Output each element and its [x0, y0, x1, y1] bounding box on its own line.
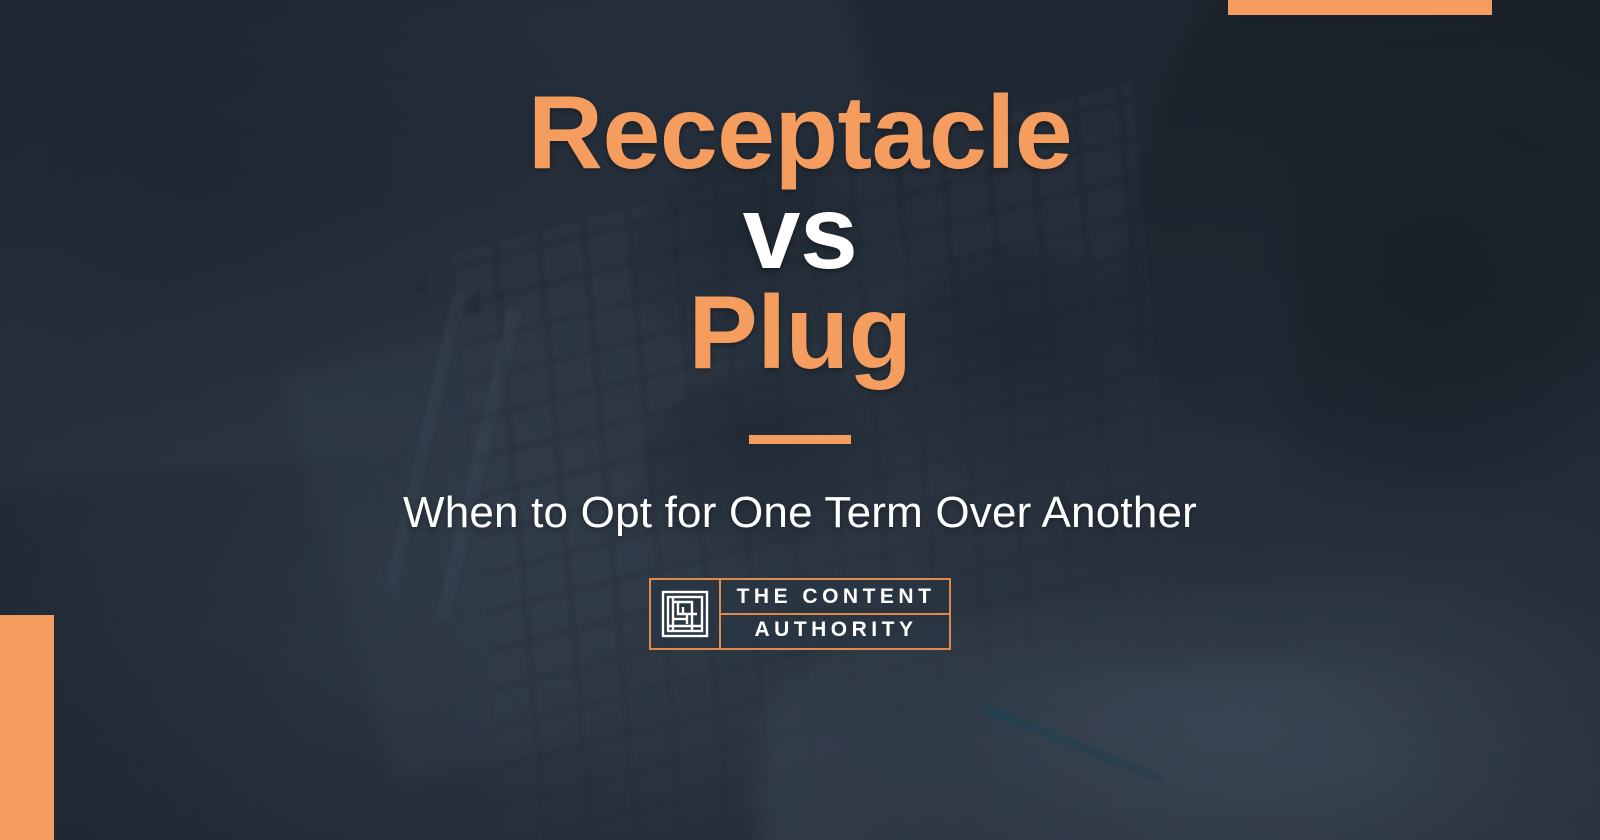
maze-square-icon — [651, 580, 721, 648]
brand-logo[interactable]: THE CONTENT AUTHORITY — [649, 578, 952, 650]
headline-connector: vs — [528, 184, 1072, 284]
brand-logo-line-one: THE CONTENT — [721, 582, 950, 615]
brand-logo-line-two: AUTHORITY — [721, 615, 950, 646]
headline-term-one: Receptacle — [528, 84, 1072, 184]
headline-term-two: Plug — [528, 284, 1072, 384]
page-title: Receptacle vs Plug — [528, 84, 1072, 383]
brand-logo-wordmark: THE CONTENT AUTHORITY — [721, 580, 950, 648]
banner-content: Receptacle vs Plug When to Opt for One T… — [0, 0, 1600, 840]
hero-banner: Receptacle vs Plug When to Opt for One T… — [0, 0, 1600, 840]
title-underline-rule — [749, 435, 851, 444]
page-subtitle: When to Opt for One Term Over Another — [403, 488, 1197, 538]
